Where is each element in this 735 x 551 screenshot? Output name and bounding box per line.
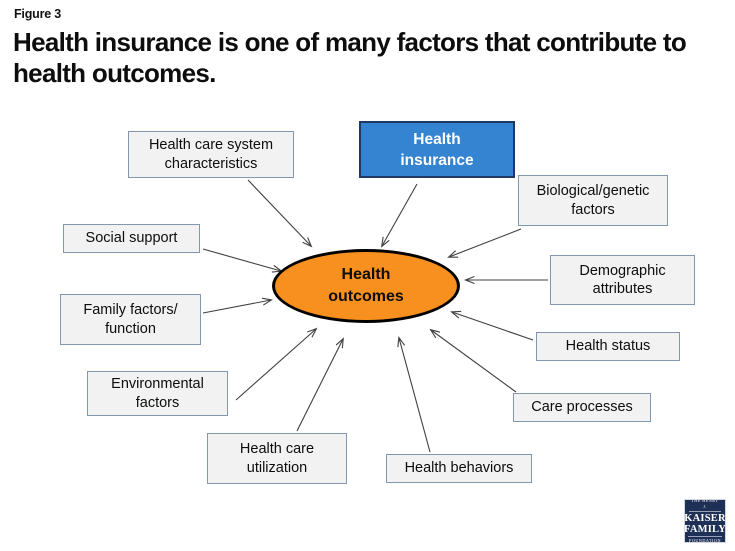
node-health-care-utilization[interactable]: Health care utilization xyxy=(207,433,347,484)
node-demographic-attributes-line1: Demographic xyxy=(579,262,665,281)
arrow-health-status xyxy=(452,312,533,340)
slide-canvas: Figure 3 Health insurance is one of many… xyxy=(0,0,735,551)
arrow-health-behaviors xyxy=(399,338,430,452)
health-outcomes-diagram: Health outcomes Health insurance Health … xyxy=(0,0,735,551)
arrow-health-care-system-characteristics xyxy=(248,180,311,246)
node-health-outcomes-line2: outcomes xyxy=(328,286,404,308)
arrow-health-insurance xyxy=(382,184,417,246)
node-health-status-label: Health status xyxy=(566,337,651,356)
node-social-support-label: Social support xyxy=(86,229,178,248)
kaiser-family-foundation-logo: THE HENRY J. KAISER FAMILY FOUNDATION xyxy=(684,499,726,543)
node-health-care-system-characteristics[interactable]: Health care system characteristics xyxy=(128,131,294,178)
node-care-processes-label: Care processes xyxy=(531,398,633,417)
arrow-care-processes xyxy=(431,330,516,392)
node-biological-genetic-factors[interactable]: Biological/genetic factors xyxy=(518,175,668,226)
arrow-environmental-factors xyxy=(236,329,316,400)
logo-line-family: FAMILY xyxy=(684,524,726,535)
node-social-support[interactable]: Social support xyxy=(63,224,200,253)
node-biological-genetic-factors-line2: factors xyxy=(537,201,650,220)
node-biological-genetic-factors-line1: Biological/genetic xyxy=(537,182,650,201)
node-family-factors-function-line1: Family factors/ xyxy=(83,301,177,320)
node-health-care-utilization-line1: Health care xyxy=(240,440,314,459)
node-health-status[interactable]: Health status xyxy=(536,332,680,361)
node-health-insurance-line1: Health xyxy=(400,129,473,150)
logo-line-foundation: FOUNDATION xyxy=(688,536,722,543)
node-demographic-attributes[interactable]: Demographic attributes xyxy=(550,255,695,305)
arrow-biological-genetic-factors xyxy=(449,229,521,257)
node-health-care-system-characteristics-line1: Health care system xyxy=(149,136,273,155)
node-health-care-system-characteristics-line2: characteristics xyxy=(149,155,273,174)
logo-line-kaiser: KAISER xyxy=(684,513,725,524)
node-health-behaviors[interactable]: Health behaviors xyxy=(386,454,532,483)
node-health-care-utilization-line2: utilization xyxy=(240,459,314,478)
node-family-factors-function[interactable]: Family factors/ function xyxy=(60,294,201,345)
node-environmental-factors[interactable]: Environmental factors xyxy=(87,371,228,416)
node-family-factors-function-line2: function xyxy=(83,320,177,339)
node-health-behaviors-label: Health behaviors xyxy=(405,459,514,478)
node-environmental-factors-line1: Environmental xyxy=(111,375,204,394)
arrow-social-support xyxy=(203,249,281,271)
arrow-family-factors-function xyxy=(203,300,271,313)
node-health-insurance-line2: insurance xyxy=(400,150,473,171)
node-health-outcomes-line1: Health xyxy=(328,264,404,286)
arrow-health-care-utilization xyxy=(297,339,343,431)
logo-line-the-henry-j: THE HENRY J. xyxy=(689,499,721,512)
node-demographic-attributes-line2: attributes xyxy=(579,280,665,299)
node-environmental-factors-line2: factors xyxy=(111,394,204,413)
node-health-insurance[interactable]: Health insurance xyxy=(359,121,515,178)
node-care-processes[interactable]: Care processes xyxy=(513,393,651,422)
node-health-outcomes[interactable]: Health outcomes xyxy=(272,249,460,323)
